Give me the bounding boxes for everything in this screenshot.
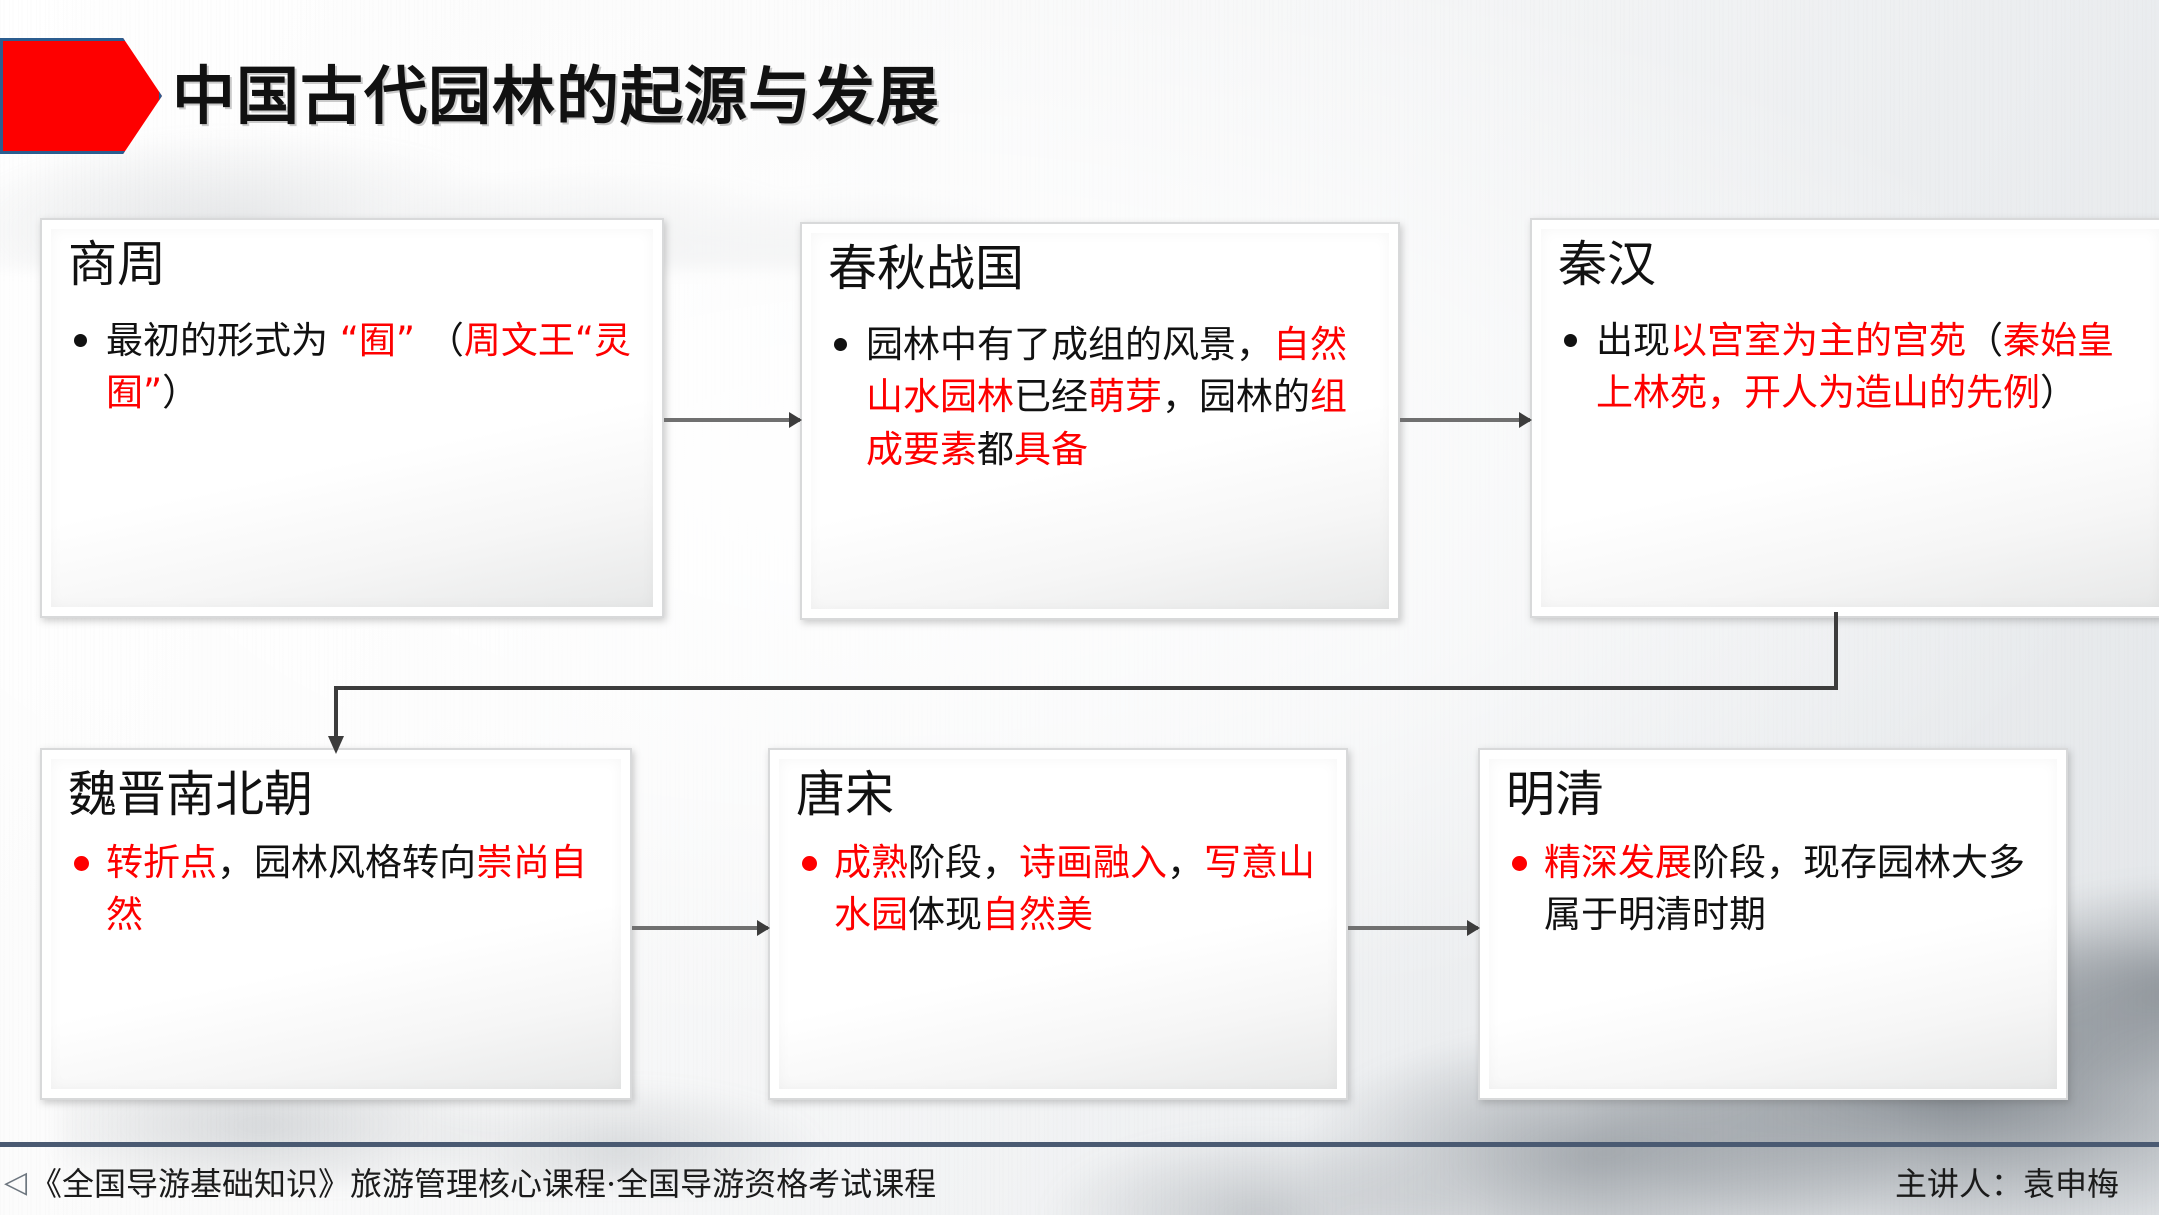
flow-node-weijin-nanbeichao[interactable]: 魏晋南北朝 转折点，园林风格转向崇尚自然 — [40, 748, 632, 1100]
bullet-icon — [834, 338, 847, 351]
text-run: （ — [415, 319, 464, 362]
flow-node-mingqing[interactable]: 明清 精深发展阶段，现存园林大多属于明清时期 — [1478, 748, 2068, 1100]
text-run: 最初的形式为 — [106, 319, 340, 362]
text-run: 转折点 — [106, 841, 217, 884]
text-run: 诗画融入 — [1019, 841, 1167, 884]
text-run: 阶段， — [908, 841, 1019, 884]
text-run: 以宫室为主的宫苑 — [1670, 319, 1966, 362]
text-run: ，园林风格转向 — [217, 841, 476, 884]
text-run: 出现 — [1596, 319, 1670, 362]
flow-node-text: 成熟阶段，诗画融入，写意山水园体现自然美 — [834, 841, 1315, 937]
flow-node-body: 精深发展阶段，现存园林大多属于明清时期 — [1506, 837, 2044, 942]
connector-arrow-node2-node3 — [1400, 418, 1530, 422]
connector-elbow-node3-node4 — [300, 612, 1860, 762]
flow-node-text: 精深发展阶段，现存园林大多属于明清时期 — [1544, 841, 2025, 937]
flow-node-body: 出现以宫室为主的宫苑（秦始皇上林苑，开人为造山的先例） — [1558, 315, 2146, 420]
flow-node-text: 出现以宫室为主的宫苑（秦始皇上林苑，开人为造山的先例） — [1596, 319, 2114, 415]
flow-node-title: 秦汉 — [1558, 238, 2146, 293]
bullet-icon — [1564, 334, 1577, 347]
text-run: 已经 — [1014, 375, 1088, 418]
text-run: ， — [1167, 841, 1204, 884]
text-run: ） — [2040, 371, 2077, 414]
flow-node-title: 明清 — [1506, 768, 2044, 823]
connector-arrow-node5-node6 — [1348, 926, 1478, 930]
flow-node-text: 转折点，园林风格转向崇尚自然 — [106, 841, 587, 937]
flow-node-body: 成熟阶段，诗画融入，写意山水园体现自然美 — [796, 837, 1324, 942]
flow-node-chunqiu-zhanguo[interactable]: 春秋战国 园林中有了成组的风景，自然山水园林已经萌芽，园林的组成要素都具备 — [800, 222, 1400, 620]
flow-node-title: 春秋战国 — [828, 242, 1376, 297]
flow-node-tangsong[interactable]: 唐宋 成熟阶段，诗画融入，写意山水园体现自然美 — [768, 748, 1348, 1100]
connector-arrow-node4-node5 — [632, 926, 768, 930]
text-run: ，园林的 — [1162, 375, 1310, 418]
flow-node-body: 转折点，园林风格转向崇尚自然 — [68, 837, 608, 942]
flow-node-title: 魏晋南北朝 — [68, 768, 608, 823]
flow-node-qinhan[interactable]: 秦汉 出现以宫室为主的宫苑（秦始皇上林苑，开人为造山的先例） — [1530, 218, 2159, 618]
connector-arrow-node1-node2 — [664, 418, 800, 422]
bullet-icon — [74, 334, 87, 347]
text-run: 自然美 — [982, 893, 1093, 936]
flow-node-shangzhou[interactable]: 商周 最初的形式为 “囿” （周文王“灵囿”） — [40, 218, 664, 618]
text-run: ） — [162, 371, 199, 414]
text-run: “囿” — [340, 319, 415, 362]
text-run: 萌芽 — [1088, 375, 1162, 418]
flow-node-body: 最初的形式为 “囿” （周文王“灵囿”） — [68, 315, 640, 420]
flow-node-text: 园林中有了成组的风景，自然山水园林已经萌芽，园林的组成要素都具备 — [866, 323, 1347, 471]
slide-footer: ◁ 《全国导游基础知识》旅游管理核心课程·全国导游资格考试课程 主讲人：袁申梅 — [0, 1147, 2159, 1215]
text-run: 成熟 — [834, 841, 908, 884]
text-run: （ — [1966, 319, 2003, 362]
flow-node-body: 园林中有了成组的风景，自然山水园林已经萌芽，园林的组成要素都具备 — [828, 319, 1376, 477]
page-title: 中国古代园林的起源与发展 — [172, 46, 940, 137]
slide-title-bar: 中国古代园林的起源与发展 — [0, 26, 1250, 156]
red-pentagon-icon — [0, 38, 162, 154]
text-run: 体现 — [908, 893, 982, 936]
footer-presenter-text: 主讲人：袁申梅 — [1895, 1159, 2119, 1205]
text-run: 都 — [977, 428, 1014, 471]
text-run: 精深发展 — [1544, 841, 1692, 884]
text-run: 具备 — [1014, 428, 1088, 471]
footer-course-text: 《全国导游基础知识》旅游管理核心课程·全国导游资格考试课程 — [30, 1159, 936, 1205]
flow-node-title: 唐宋 — [796, 768, 1324, 823]
flow-node-title: 商周 — [68, 238, 640, 293]
text-run: 园林中有了成组的风景， — [866, 323, 1273, 366]
footer-left-mark-icon: ◁ — [4, 1165, 27, 1200]
flow-node-text: 最初的形式为 “囿” （周文王“灵囿”） — [106, 319, 631, 415]
bullet-icon — [1512, 856, 1527, 871]
bullet-icon — [802, 856, 817, 871]
bullet-icon — [74, 856, 89, 871]
